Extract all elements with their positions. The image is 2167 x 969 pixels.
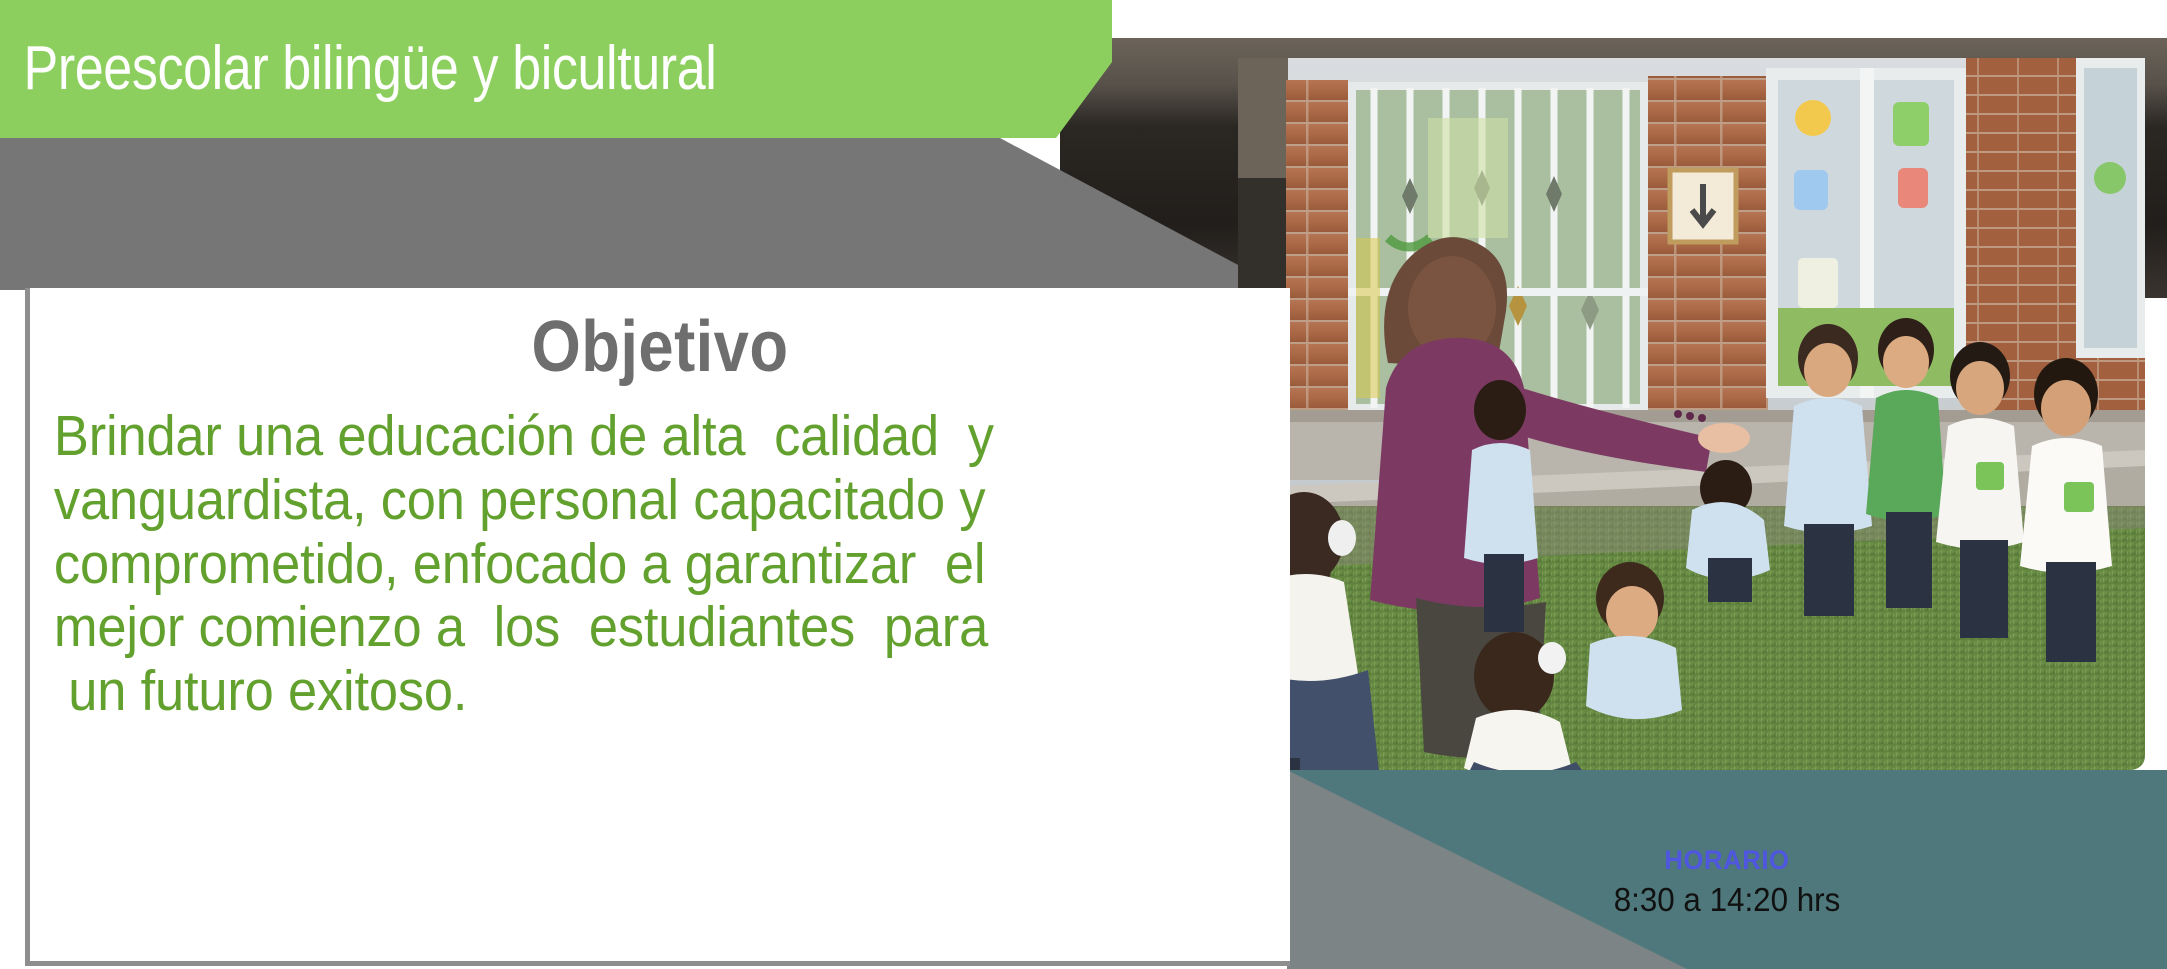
classroom-photo	[1238, 58, 2145, 770]
objective-line: un futuro exitoso.	[54, 660, 1165, 724]
page-title: Preescolar bilingüe y bicultural	[0, 38, 716, 100]
objective-line: comprometido, enfocado a garantizar el	[54, 533, 1165, 597]
schedule-block: HORARIO 8:30 a 14:20 hrs	[1287, 846, 2167, 920]
objective-body: Brindar una educación de alta calidad y …	[30, 405, 1189, 724]
title-banner: Preescolar bilingüe y bicultural	[0, 0, 1112, 138]
objective-line: mejor comienzo a los estudiantes para	[54, 596, 1165, 660]
objective-heading: Objetivo	[106, 311, 1215, 383]
schedule-value: 8:30 a 14:20 hrs	[1309, 879, 2145, 920]
objective-card: Objetivo Brindar una educación de alta c…	[25, 288, 1290, 966]
objective-line: vanguardista, con personal capacitado y	[54, 469, 1165, 533]
schedule-label: HORARIO	[1309, 846, 2145, 876]
objective-line: Brindar una educación de alta calidad y	[54, 405, 1165, 469]
slide: Preescolar bilingüe y bicultural	[0, 0, 2167, 969]
